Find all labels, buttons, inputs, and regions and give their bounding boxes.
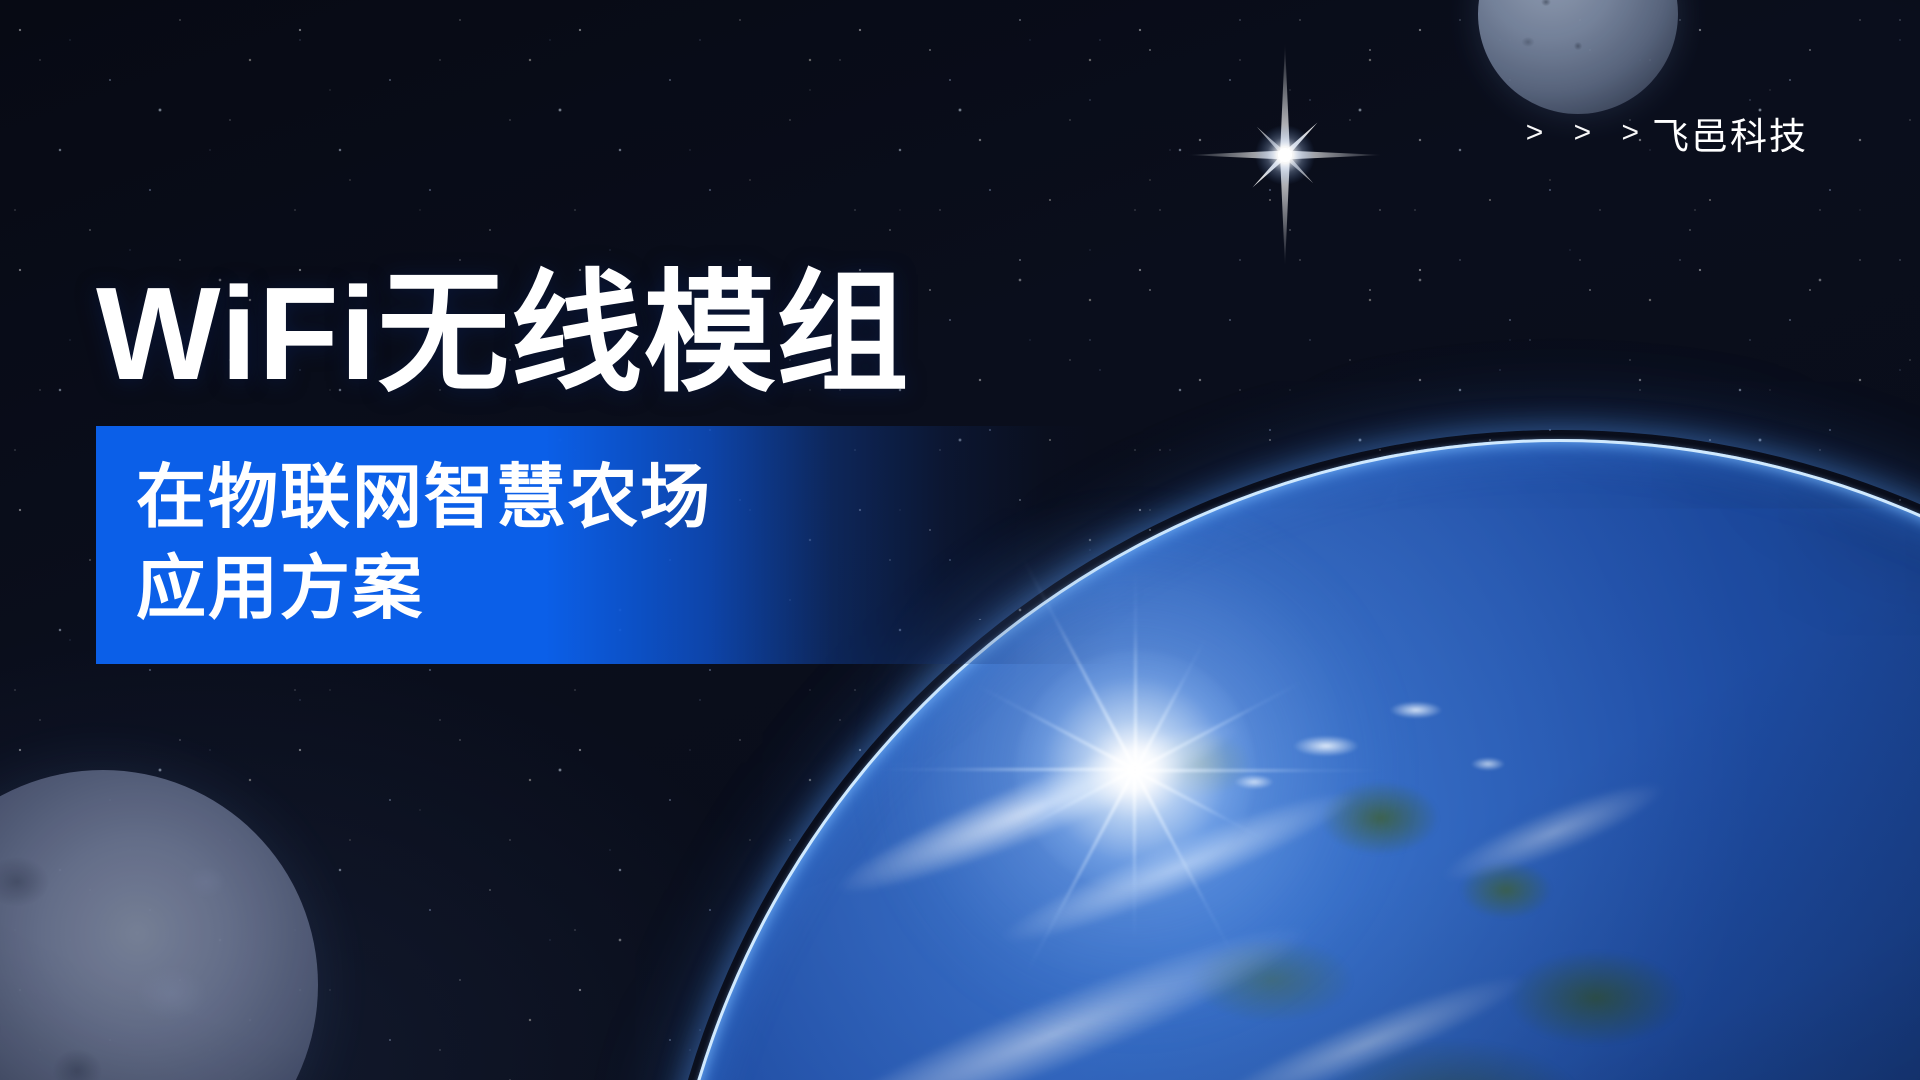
moon-bottom-left bbox=[0, 770, 318, 1080]
subtitle-line-1: 在物联网智慧农场 bbox=[136, 452, 1118, 543]
headline-block: WiFi无线模组 在物联网智慧农场 应用方案 bbox=[96, 268, 1196, 664]
subtitle-line-2: 应用方案 bbox=[136, 543, 1118, 634]
page-title: WiFi无线模组 bbox=[96, 268, 1196, 400]
brand-name: 飞邑科技 bbox=[1652, 106, 1808, 160]
bright-star-icon bbox=[1165, 35, 1405, 275]
poster-canvas: > > > 飞邑科技 WiFi无线模组 在物联网智慧农场 应用方案 bbox=[0, 0, 1920, 1080]
chevron-right-icon: > > > bbox=[1526, 116, 1650, 150]
brand-logo[interactable]: > > > 飞邑科技 bbox=[1526, 106, 1808, 160]
sun-flare-core bbox=[1015, 650, 1255, 890]
subtitle-banner: 在物联网智慧农场 应用方案 bbox=[96, 426, 1118, 664]
moon-top-right bbox=[1478, 0, 1678, 114]
